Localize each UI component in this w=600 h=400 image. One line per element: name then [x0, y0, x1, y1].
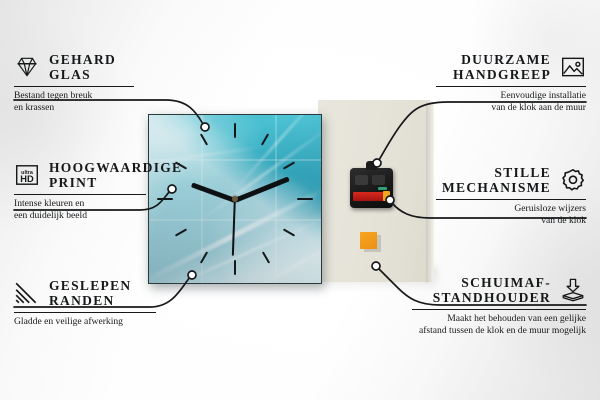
feature-description: Maakt het behouden van een gelijke afsta… [412, 313, 586, 336]
feature-description: Geruisloze wijzers van de klok [436, 203, 586, 226]
feature-hoogwaardige-print: ultra HD HOOGWAARDIGE PRINT Intense kleu… [14, 160, 164, 221]
feature-schuimafstandhouder: SCHUIMAF- STANDHOUDER Maakt het behouden… [412, 275, 586, 336]
feature-title: DUURZAME HANDGREEP [453, 52, 551, 82]
divider [14, 194, 146, 195]
feature-geslepen-randen: GESLEPEN RANDEN Gladde en veilige afwerk… [14, 278, 174, 328]
feature-description: Bestand tegen breuk en krassen [14, 90, 164, 113]
feature-title: GEHARD GLAS [49, 52, 116, 82]
feature-gehard-glas: GEHARD GLAS Bestand tegen breuk en krass… [14, 52, 164, 113]
divider [14, 86, 134, 87]
diamond-icon [14, 54, 40, 80]
feature-stille-mechanisme: STILLE MECHANISME Geruisloze wijzers van… [436, 165, 586, 226]
feature-description: Gladde en veilige afwerking [14, 316, 174, 327]
glass-clock-face [148, 114, 322, 284]
feature-title: STILLE MECHANISME [442, 165, 551, 195]
divider [436, 86, 586, 87]
infographic-canvas: GEHARD GLAS Bestand tegen breuk en krass… [0, 0, 600, 400]
feature-duurzame-handgreep: DUURZAME HANDGREEP Eenvoudige installati… [436, 52, 586, 113]
mechanism-hanger-nub [366, 161, 377, 170]
feature-title: SCHUIMAF- STANDHOUDER [433, 275, 551, 305]
clock-center-hub [232, 196, 238, 202]
picture-frame-icon [560, 54, 586, 80]
divider [14, 312, 156, 313]
divider [436, 199, 586, 200]
panel-edge [426, 102, 434, 283]
beveled-edges-icon [14, 280, 40, 306]
divider [412, 309, 586, 310]
battery-plus-terminal [383, 191, 390, 201]
mechanism-dial-right [372, 175, 385, 185]
product-photo [130, 100, 430, 290]
feature-description: Intense kleuren en een duidelijk beeld [14, 198, 164, 221]
press-down-pad-icon [560, 277, 586, 303]
mechanism-dial-left [355, 175, 368, 185]
feature-description: Eenvoudige installatie van de klok aan d… [436, 90, 586, 113]
gear-icon [560, 167, 586, 193]
clock-mechanism [350, 168, 393, 208]
clock-tick-6 [234, 260, 236, 275]
clock-tick-3 [297, 198, 313, 200]
feature-title: HOOGWAARDIGE PRINT [49, 160, 182, 190]
foam-spacer-pad [360, 232, 377, 249]
ultra-hd-icon: ultra HD [14, 162, 40, 188]
mechanism-label-strip [378, 187, 387, 190]
feature-title: GESLEPEN RANDEN [49, 278, 131, 308]
clock-tick-12 [234, 123, 236, 138]
svg-text:HD: HD [20, 174, 34, 184]
